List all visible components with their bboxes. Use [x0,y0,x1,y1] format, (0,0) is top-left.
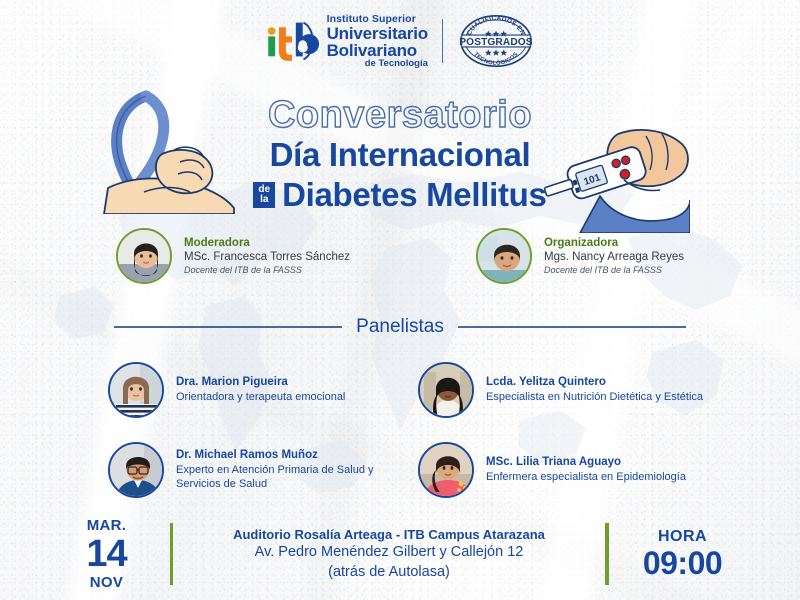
title-line-conversatorio: Conversatorio [0,96,800,134]
title-row-diabetes: de la Diabetes Mellitus [0,176,800,214]
itb-logo: Instituto Superior Universitario Bolivar… [265,14,428,68]
footer-divider-right [605,523,609,585]
date-day: 14 [70,535,144,573]
venue-line-3: (atrás de Autolasa) [199,563,579,582]
event-venue: Auditorio Rosalía Arteaga - ITB Campus A… [199,526,579,582]
footer-divider-left [170,523,174,585]
panelist-info: Lcda. Yelitza Quintero Especialista en N… [486,375,703,404]
de-la-badge: de la [253,182,275,208]
panelist-info: Dr. Michael Ramos Muñoz Experto en Atenc… [176,448,398,492]
avatar [116,228,172,284]
time-label: HORA [635,529,731,545]
avatar [418,442,474,498]
title-line-dia-internacional: Día Internacional [0,137,800,174]
staff-info: Organizadora Mgs. Nancy Arreaga Reyes Do… [544,236,684,277]
date-month: NOV [70,575,144,590]
staff-name: MSc. Francesca Torres Sánchez [184,250,350,265]
heading-rule-left [114,326,342,328]
title-line-diabetes-mellitus: Diabetes Mellitus [282,176,546,214]
heading-rule-right [458,326,686,328]
panelist-1-photo [110,364,164,418]
panelist-name: Dr. Michael Ramos Muñoz [176,448,398,463]
panelist-role: Especialista en Nutrición Dietética y Es… [486,390,703,404]
panelistas-heading: Panelistas [0,316,800,338]
panelist-item: Lcda. Yelitza Quintero Especialista en N… [418,350,708,430]
institution-line-3: Bolivariano [327,42,428,59]
poster-header: Instituto Superior Universitario Bolivar… [0,10,800,72]
institution-line-4: de Tecnología [327,59,428,69]
panelist-item: Dr. Michael Ramos Muñoz Experto en Atenc… [108,430,398,510]
institution-line-1: Instituto Superior [327,14,428,25]
svg-text:POSTGRADOS: POSTGRADOS [460,37,534,48]
itb-logomark-icon [265,18,319,64]
avatar [108,442,164,498]
venue-line-1: Auditorio Rosalía Arteaga - ITB Campus A… [199,526,579,543]
organizadora-photo [478,230,532,284]
staff-name: Mgs. Nancy Arreaga Reyes [544,250,684,265]
venue-line-2: Av. Pedro Menéndez Gilbert y Callejón 12 [199,543,579,562]
moderadora-photo [118,230,172,284]
panelist-name: MSc. Lilia Triana Aguayo [486,455,686,470]
staff-role: Organizadora [544,236,684,251]
avatar [108,362,164,418]
date-weekday: MAR. [70,518,144,533]
avatar [418,362,474,418]
panelist-3-photo [110,444,164,498]
panelist-item: Dra. Marion Pigueira Orientadora y terap… [108,350,398,430]
postgrados-seal-icon: CUALIFICADOS EN TECNOLÓGICOS POSTGRADOS [457,13,535,69]
staff-moderadora: Moderadora MSc. Francesca Torres Sánchez… [116,228,350,284]
panelist-role: Orientadora y terapeuta emocional [176,390,345,404]
institution-line-2: Universitario [327,25,428,42]
panelist-2-photo [420,364,474,418]
staff-role: Moderadora [184,236,350,251]
panelist-role: Enfermera especialista en Epidemiología [486,470,686,484]
panelist-item: MSc. Lilia Triana Aguayo Enfermera espec… [418,430,708,510]
staff-affiliation: Docente del ITB de la FASSS [544,265,684,277]
event-date: MAR. 14 NOV [70,518,144,590]
time-value: 09:00 [635,547,731,580]
staff-info: Moderadora MSc. Francesca Torres Sánchez… [184,236,350,277]
poster-title: Conversatorio Día Internacional de la Di… [0,96,800,214]
poster-footer: MAR. 14 NOV Auditorio Rosalía Arteaga - … [0,508,800,600]
staff-affiliation: Docente del ITB de la FASSS [184,265,350,277]
panelists-grid: Dra. Marion Pigueira Orientadora y terap… [108,350,708,510]
panelist-role: Experto en Atención Primaria de Salud y … [176,463,398,492]
staff-row: Moderadora MSc. Francesca Torres Sánchez… [0,228,800,284]
event-time: HORA 09:00 [635,529,731,580]
header-divider [442,19,444,63]
avatar [476,228,532,284]
staff-organizadora: Organizadora Mgs. Nancy Arreaga Reyes Do… [476,228,684,284]
poster-canvas: Instituto Superior Universitario Bolivar… [0,0,800,600]
panelist-info: Dra. Marion Pigueira Orientadora y terap… [176,375,345,404]
panelistas-label: Panelistas [356,316,444,338]
panelist-name: Lcda. Yelitza Quintero [486,375,703,390]
panelist-name: Dra. Marion Pigueira [176,375,345,390]
panelist-4-photo [420,444,474,498]
itb-wordmark: Instituto Superior Universitario Bolivar… [327,14,428,68]
badge-text-la: la [258,195,270,205]
panelist-info: MSc. Lilia Triana Aguayo Enfermera espec… [486,455,686,484]
